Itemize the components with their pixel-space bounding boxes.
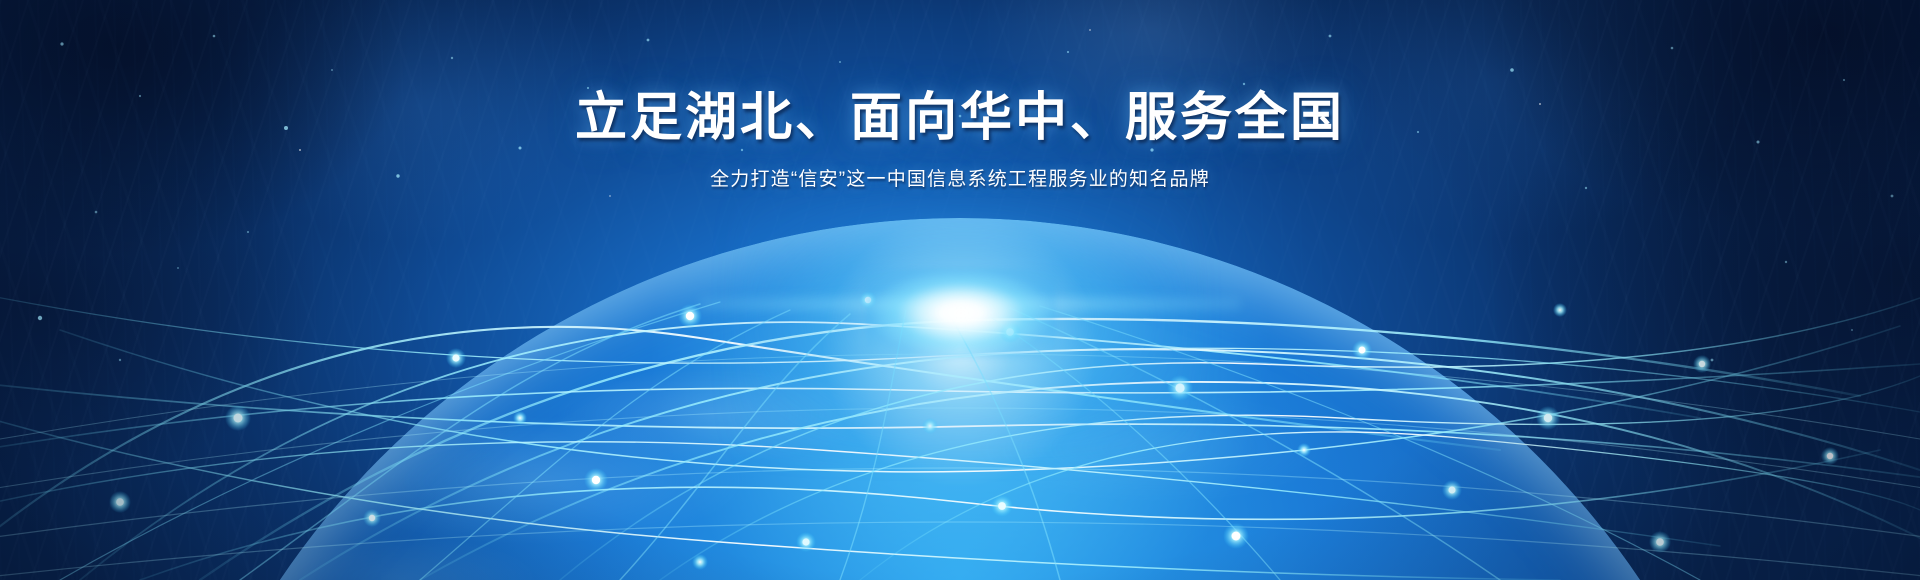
banner-text-block: 立足湖北、面向华中、服务全国 全力打造“信安”这一中国信息系统工程服务业的知名品… <box>0 88 1920 194</box>
hero-banner: 立足湖北、面向华中、服务全国 全力打造“信安”这一中国信息系统工程服务业的知名品… <box>0 0 1920 580</box>
banner-headline: 立足湖北、面向华中、服务全国 <box>0 88 1920 149</box>
banner-subtitle: 全力打造“信安”这一中国信息系统工程服务业的知名品牌 <box>0 167 1920 194</box>
core-glow <box>866 268 1056 358</box>
